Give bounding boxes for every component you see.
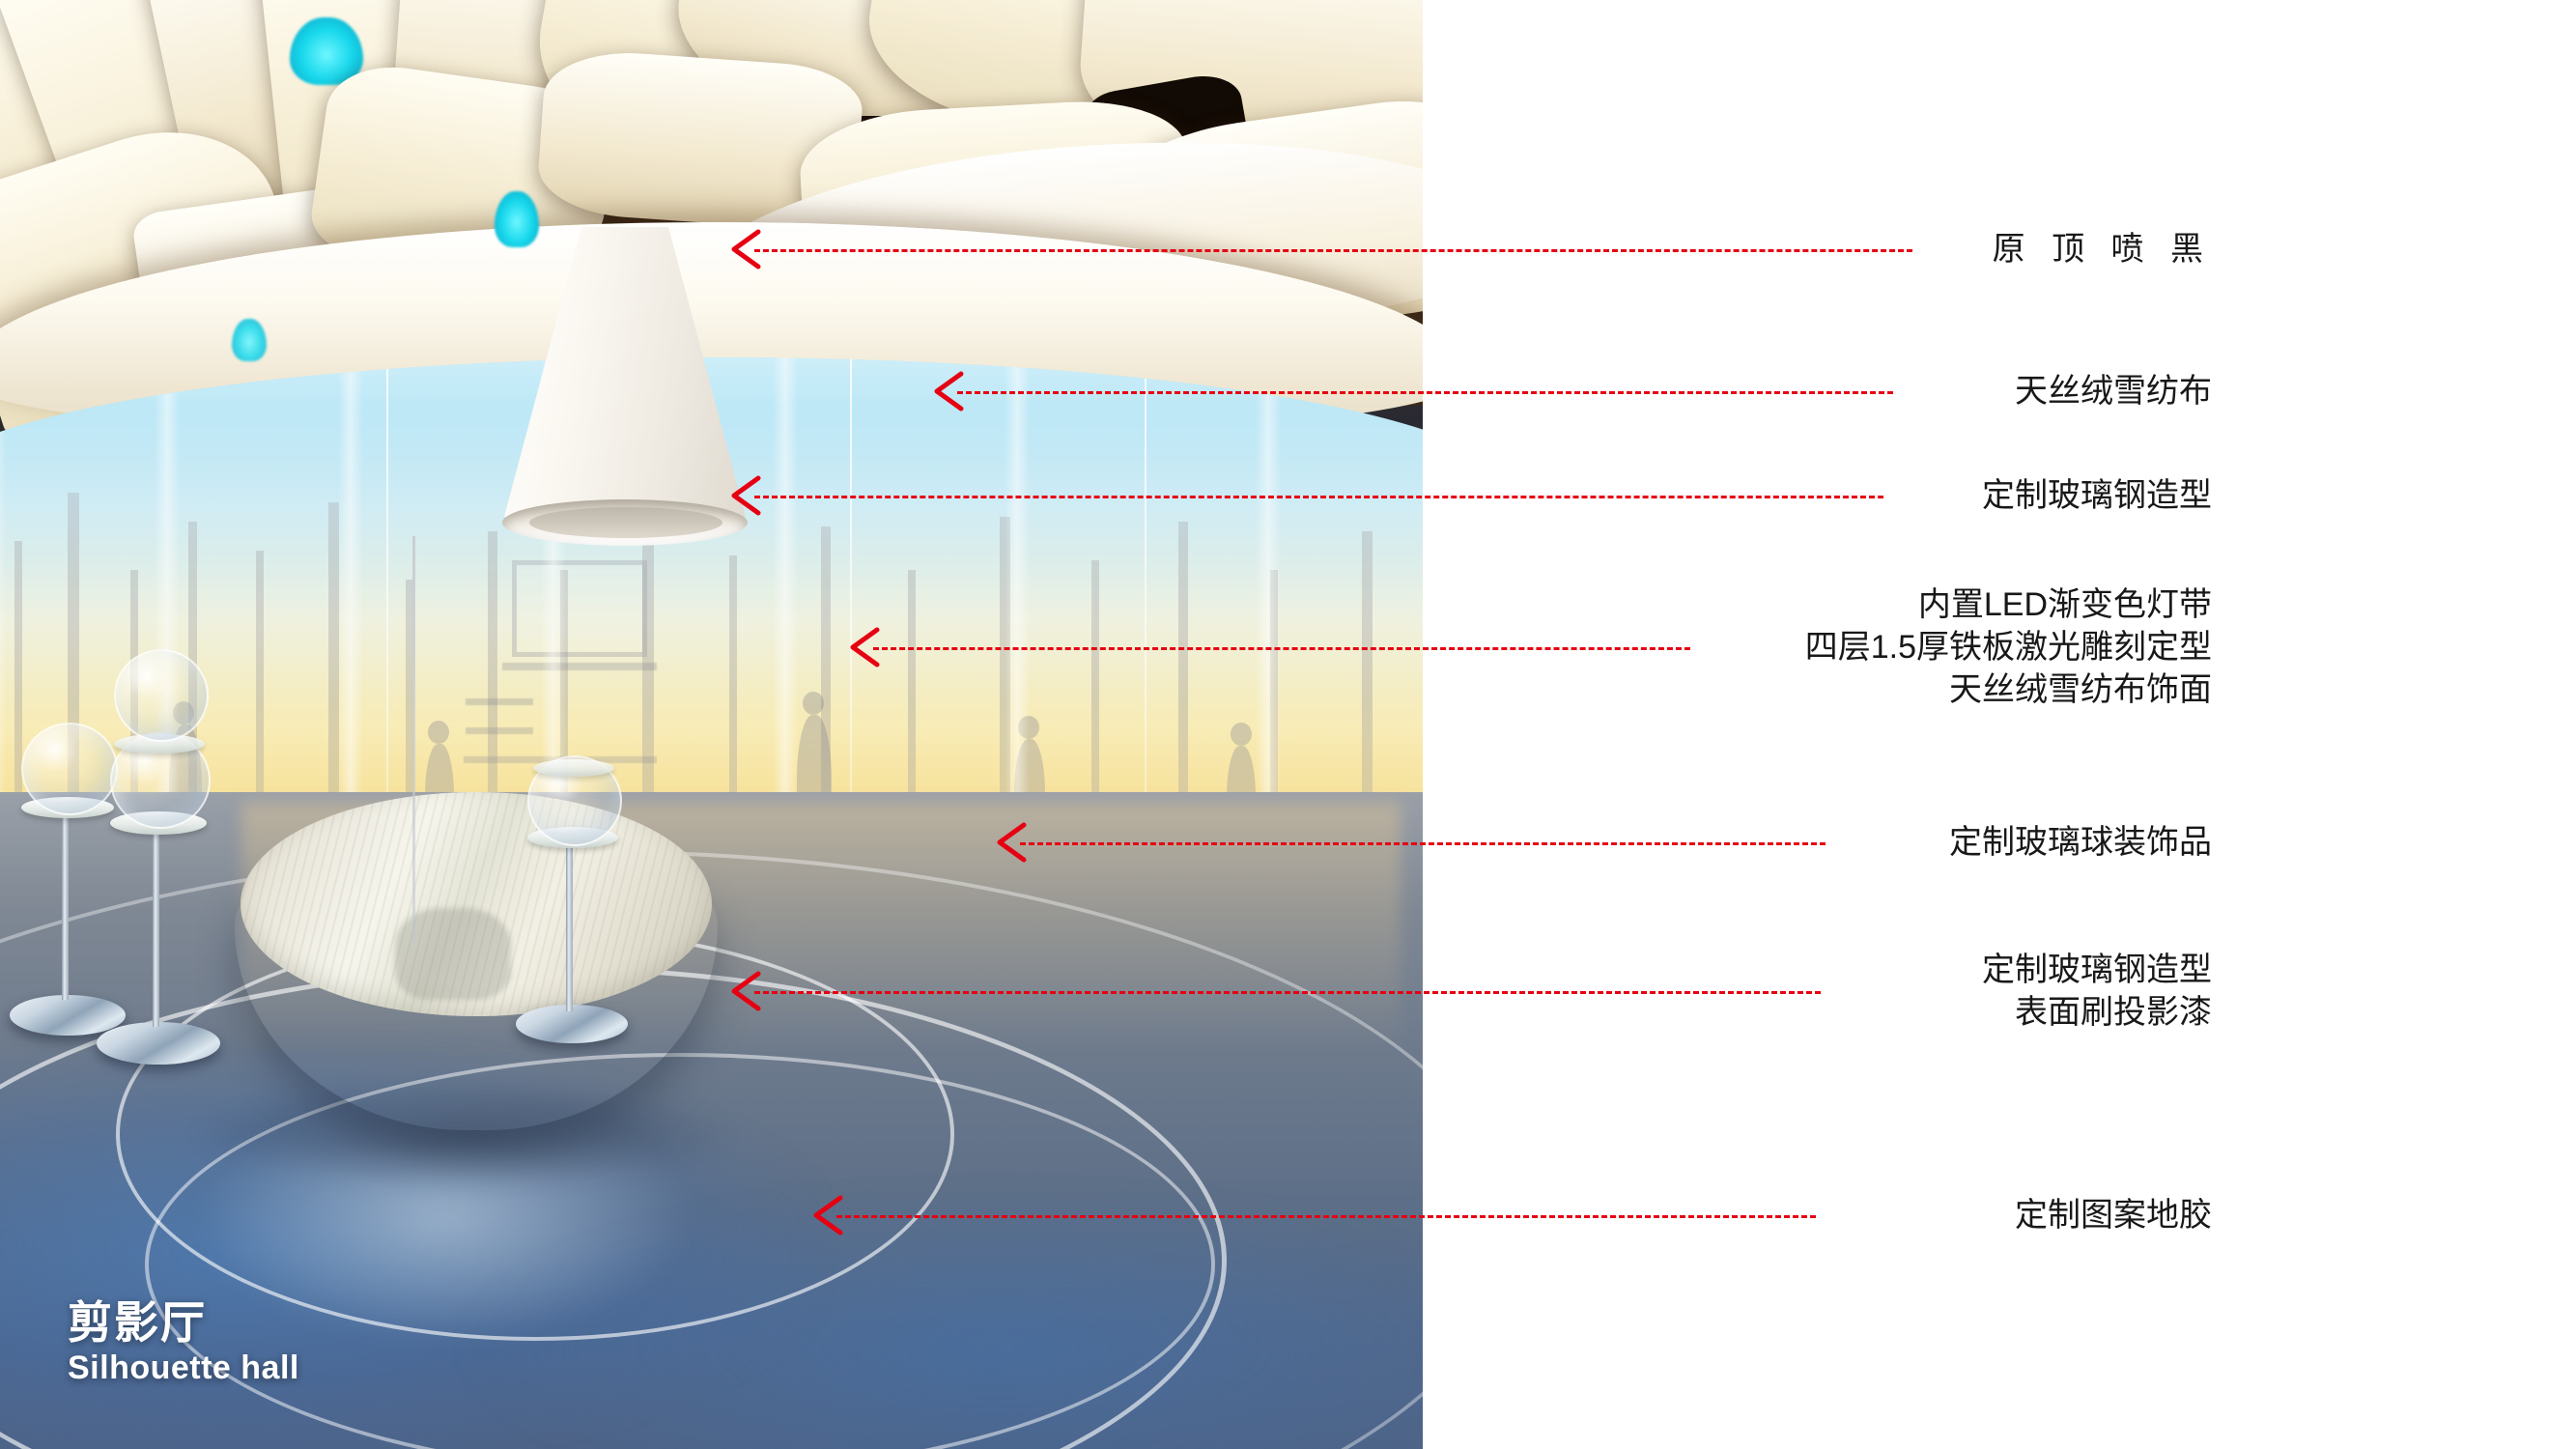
leader-line bbox=[836, 1215, 1816, 1218]
annotation-layer: 原 顶 喷 黑天丝绒雪纺布定制玻璃钢造型内置LED渐变色灯带四层1.5厚铁板激光… bbox=[0, 0, 2576, 1449]
annotation-custom-pattern-floor-vinyl: 定制图案地胶 bbox=[0, 0, 2576, 1449]
annotation-label-line: 定制图案地胶 bbox=[2015, 1194, 2212, 1236]
annotation-label: 定制图案地胶 bbox=[2015, 1194, 2212, 1236]
slide-root: 剪影厅 Silhouette hall 原 顶 喷 黑天丝绒雪纺布定制玻璃钢造型… bbox=[0, 0, 2576, 1449]
